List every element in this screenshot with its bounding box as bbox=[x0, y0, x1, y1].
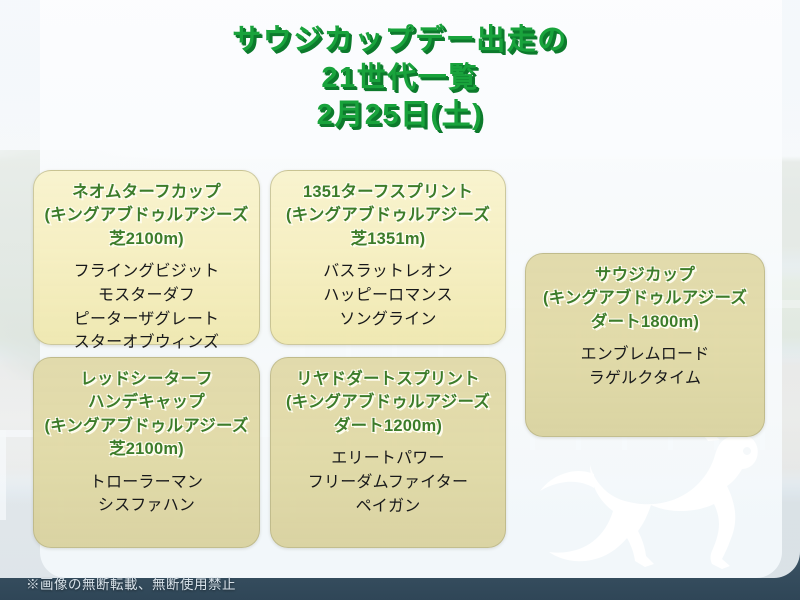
list-item: エリートパワー bbox=[277, 447, 499, 471]
page-title: サウジカップデー出走の 21世代一覧 2月25日(土) bbox=[0, 22, 800, 135]
list-item: フリーダムファイター bbox=[277, 471, 499, 495]
race-name: レッドシーターフ bbox=[40, 368, 253, 391]
race-surface-distance: 芝1351m) bbox=[277, 228, 499, 251]
list-item: ラゲルクタイム bbox=[532, 367, 758, 391]
race-name: サウジカップ bbox=[532, 264, 758, 287]
race-card-saudi-cup: サウジカップ (キングアブドゥルアジーズ ダート1800m) エンブレムロード … bbox=[525, 253, 765, 437]
list-item: ソングライン bbox=[277, 308, 499, 332]
race-card-header: ネオムターフカップ (キングアブドゥルアジーズ 芝2100m) bbox=[40, 181, 253, 251]
race-name: 1351ターフスプリント bbox=[277, 181, 499, 204]
race-name-cont: ハンデキャップ bbox=[40, 391, 253, 414]
race-card-red-sea-turf-handicap: レッドシーターフ ハンデキャップ (キングアブドゥルアジーズ 芝2100m) ト… bbox=[33, 357, 260, 548]
list-item: バスラットレオン bbox=[277, 260, 499, 284]
horse-list: フライングビジット モスターダフ ピーターザグレート スターオブウィンズ bbox=[40, 260, 253, 355]
list-item: シスファハン bbox=[40, 494, 253, 518]
race-card-header: サウジカップ (キングアブドゥルアジーズ ダート1800m) bbox=[532, 264, 758, 334]
race-card-neom-turf-cup: ネオムターフカップ (キングアブドゥルアジーズ 芝2100m) フライングビジッ… bbox=[33, 170, 260, 345]
race-venue: (キングアブドゥルアジーズ bbox=[277, 204, 499, 227]
list-item: フライングビジット bbox=[40, 260, 253, 284]
list-item: スターオブウィンズ bbox=[40, 331, 253, 355]
copyright-notice: ※画像の無断転載、無断使用禁止 bbox=[26, 573, 236, 593]
race-card-header: レッドシーターフ ハンデキャップ (キングアブドゥルアジーズ 芝2100m) bbox=[40, 368, 253, 462]
race-venue: (キングアブドゥルアジーズ bbox=[40, 204, 253, 227]
race-card-header: リヤドダートスプリント (キングアブドゥルアジーズ ダート1200m) bbox=[277, 368, 499, 438]
race-card-turf-sprint-1351: 1351ターフスプリント (キングアブドゥルアジーズ 芝1351m) バスラット… bbox=[270, 170, 506, 345]
race-venue: (キングアブドゥルアジーズ bbox=[532, 287, 758, 310]
race-card-header: 1351ターフスプリント (キングアブドゥルアジーズ 芝1351m) bbox=[277, 181, 499, 251]
race-card-riyadh-dirt-sprint: リヤドダートスプリント (キングアブドゥルアジーズ ダート1200m) エリート… bbox=[270, 357, 506, 548]
page-title-line-1: サウジカップデー出走の bbox=[0, 22, 800, 60]
race-name: ネオムターフカップ bbox=[40, 181, 253, 204]
horse-list: トローラーマン シスファハン bbox=[40, 471, 253, 518]
horse-list: エリートパワー フリーダムファイター ペイガン bbox=[277, 447, 499, 518]
list-item: ピーターザグレート bbox=[40, 308, 253, 332]
page-title-line-3: 2月25日(土) bbox=[0, 97, 800, 135]
page-title-line-2: 21世代一覧 bbox=[0, 60, 800, 98]
race-surface-distance: 芝2100m) bbox=[40, 438, 253, 461]
horse-list: バスラットレオン ハッピーロマンス ソングライン bbox=[277, 260, 499, 331]
list-item: ハッピーロマンス bbox=[277, 284, 499, 308]
race-surface-distance: 芝2100m) bbox=[40, 228, 253, 251]
race-surface-distance: ダート1200m) bbox=[277, 415, 499, 438]
infographic-canvas: サウジカップデー出走の 21世代一覧 2月25日(土) ネオムターフカップ (キ… bbox=[0, 0, 800, 600]
list-item: エンブレムロード bbox=[532, 343, 758, 367]
race-venue: (キングアブドゥルアジーズ bbox=[40, 415, 253, 438]
list-item: トローラーマン bbox=[40, 471, 253, 495]
race-name: リヤドダートスプリント bbox=[277, 368, 499, 391]
list-item: ペイガン bbox=[277, 495, 499, 519]
list-item: モスターダフ bbox=[40, 284, 253, 308]
race-venue: (キングアブドゥルアジーズ bbox=[277, 391, 499, 414]
race-surface-distance: ダート1800m) bbox=[532, 311, 758, 334]
horse-list: エンブレムロード ラゲルクタイム bbox=[532, 343, 758, 390]
